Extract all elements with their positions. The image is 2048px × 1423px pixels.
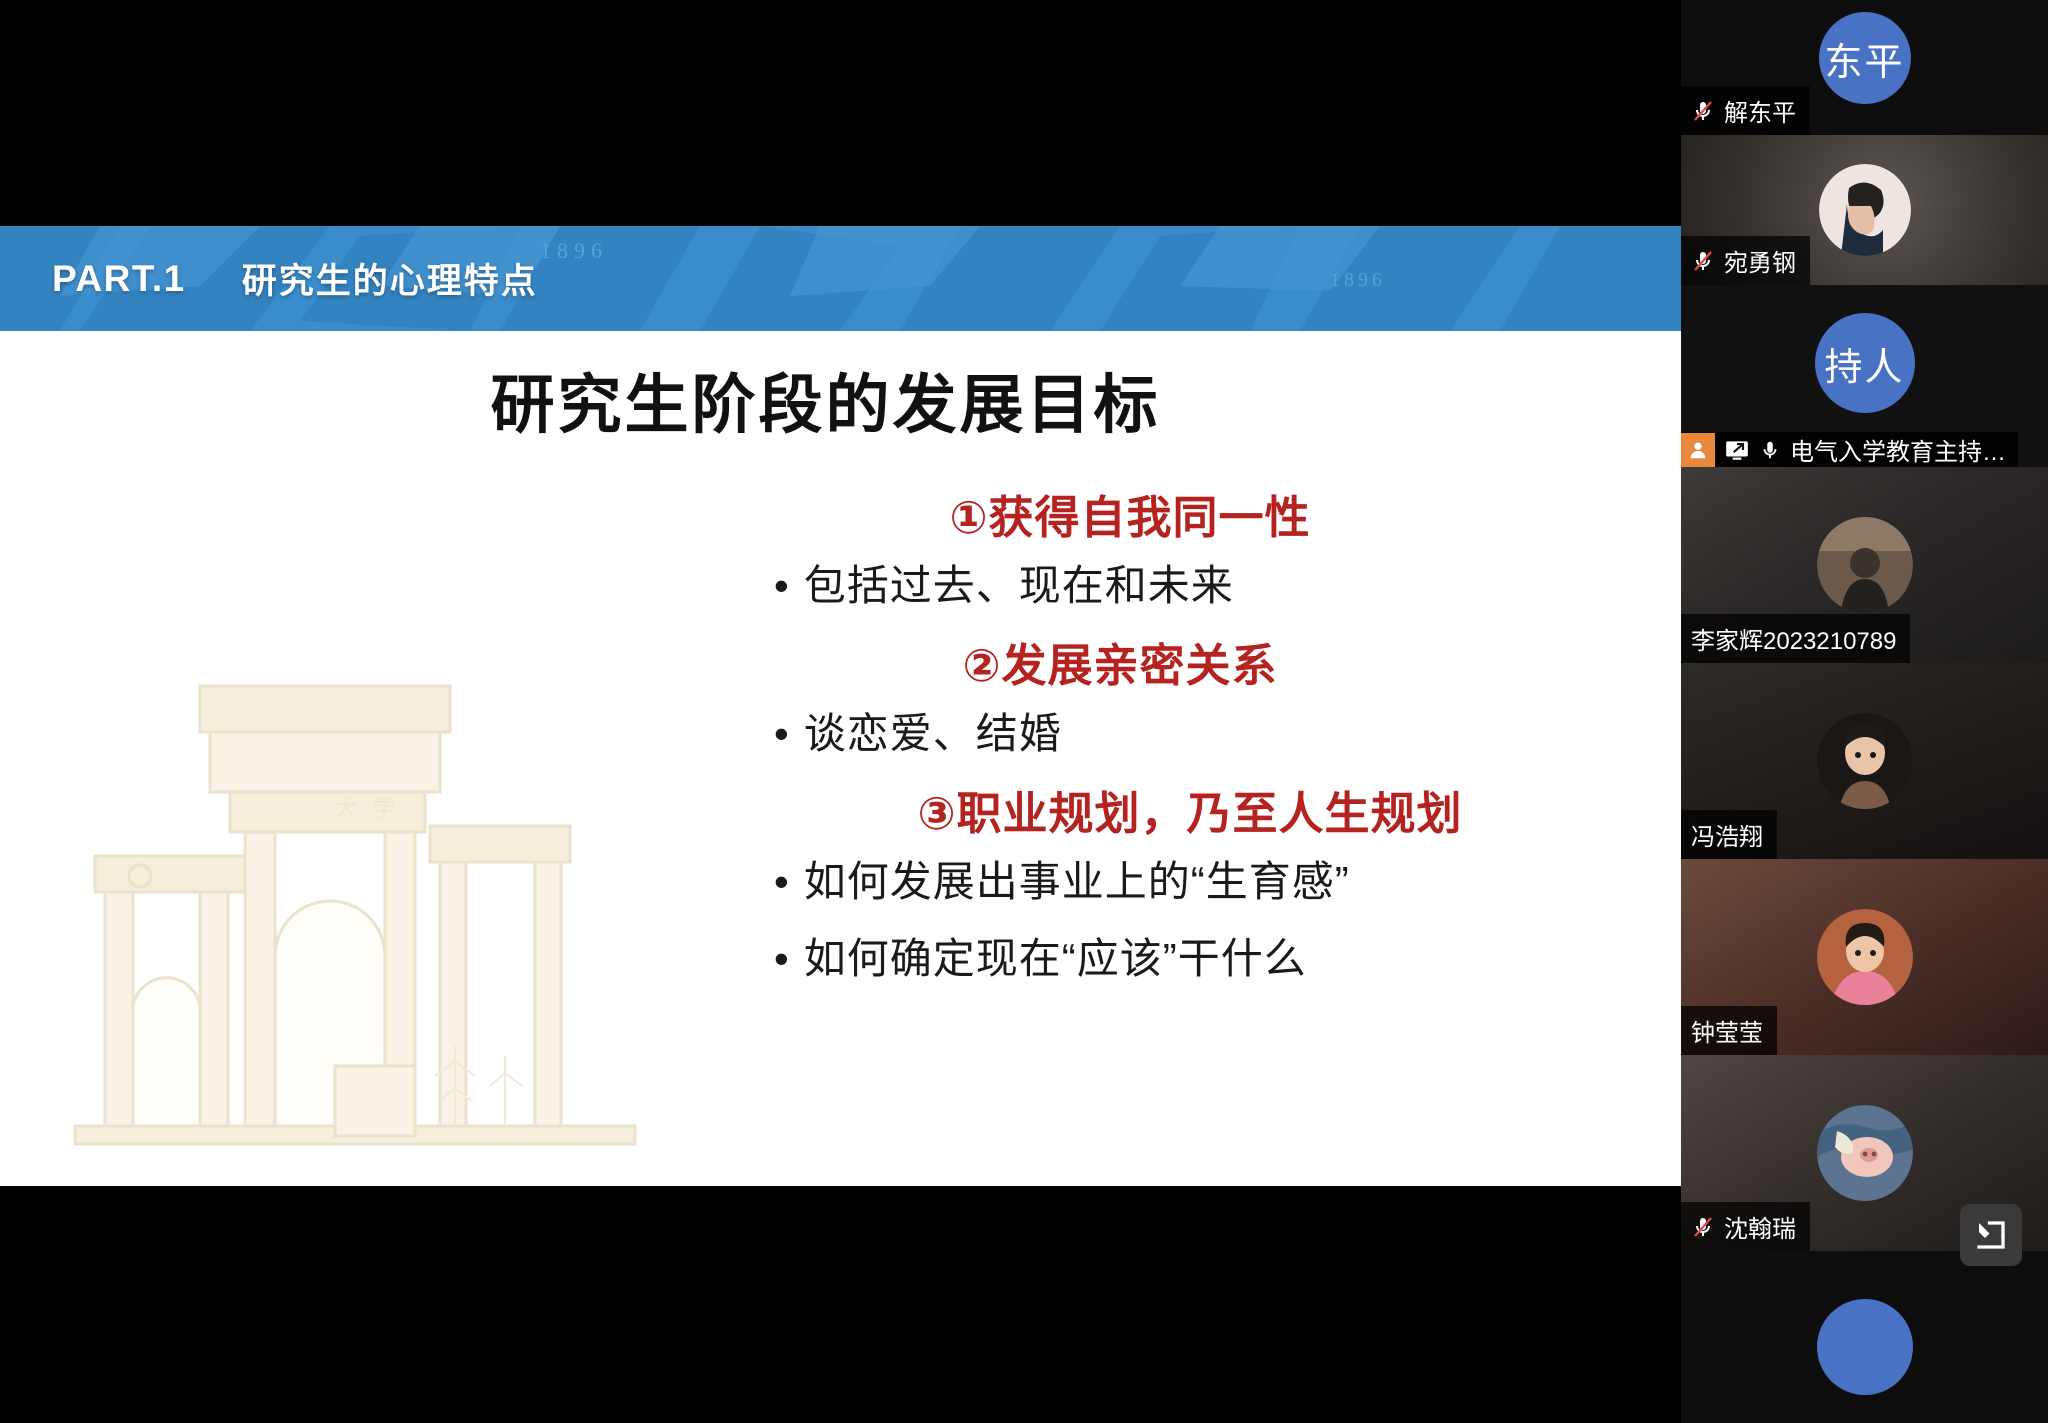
section-1-heading: ①获得自我同一性 [760,481,1620,546]
slide-part-label: PART.1 [52,258,186,300]
avatar-photo [1819,164,1911,256]
section-1-bullet-1: •包括过去、现在和未来 [760,552,1620,613]
microphone-icon [1759,438,1781,462]
participant-namebar: 钟莹莹 [1681,1006,1777,1055]
shared-screen-stage[interactable]: 1896 1896 PART.1 研究生的心理特点 [0,0,1681,1423]
participant-name: 电气入学教育主持… [1790,432,2006,467]
microphone-muted-icon [1691,249,1715,273]
participant-tile-host[interactable]: 持人 [1681,285,2048,467]
annotate-pen-button[interactable] [1960,1204,2022,1266]
section-3-bullet-1: •如何发展出事业上的“生育感” [760,848,1620,909]
participant-tile[interactable]: 钟莹莹 [1681,859,2048,1055]
section-3-heading: ③职业规划，乃至人生规划 [760,777,1620,842]
participant-tile[interactable]: 李家辉2023210789 [1681,467,2048,663]
slide-title: 研究生阶段的发展目标 [0,354,1681,446]
participant-name: 解东平 [1724,93,1796,128]
screen-share-icon [1724,437,1750,463]
microphone-muted-icon [1691,1215,1715,1239]
participant-tile[interactable]: 东平 解东平 [1681,0,2048,135]
avatar: 持人 [1815,313,1915,413]
bullet-dot-icon: • [774,562,790,609]
participant-tile[interactable] [1681,1251,2048,1423]
presentation-slide: 1896 1896 PART.1 研究生的心理特点 [0,226,1681,1186]
participant-namebar: 冯浩翔 [1681,810,1777,859]
avatar-photo [1817,713,1913,809]
bullet-dot-icon: • [774,935,790,982]
participant-tile[interactable]: 冯浩翔 [1681,663,2048,859]
bullet-dot-icon: • [774,858,790,905]
slide-banner: 1896 1896 PART.1 研究生的心理特点 [0,226,1681,331]
participant-name: 钟莹莹 [1691,1013,1763,1048]
meeting-window: 1896 1896 PART.1 研究生的心理特点 [0,0,2048,1423]
section-2-heading: ②发展亲密关系 [760,629,1620,694]
participant-namebar: 解东平 [1681,86,1810,135]
participant-namebar: 沈翰瑞 [1681,1202,1810,1251]
participant-sidebar[interactable]: 东平 解东平 [1681,0,2048,1423]
pen-annotate-icon [1973,1217,2009,1253]
university-archway-watermark-icon: 大学 [35,626,655,1186]
bullet-dot-icon: • [774,710,790,757]
participant-namebar: 李家辉2023210789 [1681,614,1910,663]
microphone-muted-icon [1691,99,1715,123]
participant-namebar: 电气入学教育主持… [1681,432,2018,467]
slide-part-title: 研究生的心理特点 [242,253,538,304]
avatar-photo [1817,517,1913,613]
participant-namebar: 宛勇钢 [1681,236,1810,285]
avatar [1817,1299,1913,1395]
avatar-photo [1817,1105,1913,1201]
avatar-photo [1817,909,1913,1005]
host-badge-icon [1681,433,1715,467]
svg-text:大学: 大学 [335,796,411,821]
avatar: 东平 [1819,12,1911,104]
participant-name: 李家辉2023210789 [1691,621,1896,656]
participant-tile[interactable]: 宛勇钢 [1681,135,2048,285]
slide-content: ①获得自我同一性 •包括过去、现在和未来 ②发展亲密关系 •谈恋爱、结婚 ③职业… [760,481,1620,1002]
participant-name: 冯浩翔 [1691,817,1763,852]
participant-name: 沈翰瑞 [1724,1209,1796,1244]
participant-name: 宛勇钢 [1724,243,1796,278]
section-3-bullet-2: •如何确定现在“应该”干什么 [760,925,1620,986]
section-2-bullet-1: •谈恋爱、结婚 [760,700,1620,761]
